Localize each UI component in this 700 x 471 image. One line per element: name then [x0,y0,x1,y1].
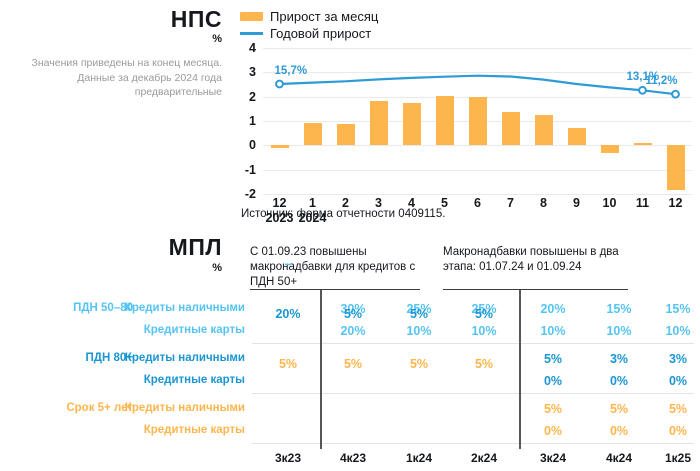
chart-bar [667,145,685,190]
legend-label-line: Годовой прирост [270,26,371,41]
table-row-label: Кредиты наличными [0,352,245,364]
table-cell: 10% [587,324,651,338]
table-cell: 5% [256,357,320,371]
table-row-divider [252,343,694,344]
table-column-label: 3к23 [256,451,320,465]
chart-source-note: Источник: форма отчетности 0409115. [241,208,445,220]
table-cell: 0% [646,424,700,438]
table-cell: 5% [587,402,651,416]
table-cell: 0% [587,424,651,438]
x-axis-tick: 6 [463,196,493,210]
x-axis-tick: 9 [562,196,592,210]
table-cell: 5% [321,307,385,321]
legend-bar-swatch-icon [240,12,263,21]
chart-legend: Прирост за месяц Годовой прирост [240,8,378,42]
table-cell: 10% [452,324,516,338]
table-row-label: Кредиты наличными [0,402,245,414]
table-cell: 15% [587,302,651,316]
table-cell: 5% [646,402,700,416]
chart-bar [568,128,586,145]
table-column-label: 2к24 [452,451,516,465]
chart-bar [469,97,487,145]
mpl-table: ПДН 50–80Кредиты наличнымиКредитные карт… [0,295,700,471]
table-cell: – [256,257,320,271]
table-column-label: 1к25 [646,451,700,465]
y-axis-tick: -2 [240,188,256,200]
chart-bar [337,124,355,145]
table-column-label: 4к24 [587,451,651,465]
mpl-unit-label: % [0,262,222,274]
table-cell: 20% [256,307,320,321]
table-cell: 5% [387,357,451,371]
y-axis-tick: 2 [240,91,256,103]
table-cell: 0% [587,374,651,388]
chart-bar [403,103,421,145]
table-cell: 5% [452,357,516,371]
y-axis-tick: -1 [240,164,256,176]
infographic-page: НПС % Значения приведены на конец месяца… [0,0,700,471]
chart-bar [601,145,619,152]
table-row-label: Кредитные карты [0,424,245,436]
table-cell: 5% [321,357,385,371]
chart-bar [436,96,454,145]
chart-bar [370,101,388,145]
table-cell: 10% [387,324,451,338]
nps-chart: 43210-1-2 15,7%13,1%11,2% [240,48,692,194]
chart-plot-area [263,48,692,194]
table-row-divider [252,443,694,444]
x-axis-tick: 8 [529,196,559,210]
table-cell: 20% [321,324,385,338]
x-axis-tick: 11 [628,196,658,210]
mpl-annotation-2: Макронадбавки повышены в два этапа: 01.0… [443,245,628,275]
table-cell: 0% [646,374,700,388]
line-marker [276,81,283,88]
table-column-label: 1к24 [387,451,451,465]
line-point-label: 15,7% [275,65,308,77]
line-marker [639,87,646,94]
line-path [280,76,676,95]
table-cell: 10% [646,324,700,338]
chart-bar [271,145,289,148]
chart-bar [502,112,520,145]
table-row-label: Кредитные карты [0,374,245,386]
x-axis-tick: 7 [496,196,526,210]
table-cell: 10% [521,324,585,338]
line-point-label: 11,2% [646,75,678,87]
chart-bar [304,123,322,145]
y-axis-tick: 1 [240,115,256,127]
table-cell: 15% [646,302,700,316]
table-column-label: 3к24 [521,451,585,465]
table-column-label: 4к23 [321,451,385,465]
legend-item-bar: Прирост за месяц [240,8,378,25]
table-cell: 3% [587,352,651,366]
table-cell: 5% [521,402,585,416]
legend-label-bar: Прирост за месяц [270,9,378,24]
table-cell: 5% [521,352,585,366]
gridline [263,194,692,195]
table-cell: 0% [521,424,585,438]
annotation-rule [250,289,420,290]
table-row-label: Кредитные карты [0,324,245,336]
y-axis-tick: 0 [240,139,256,151]
table-cell: 20% [521,302,585,316]
chart-bar [535,115,553,145]
x-axis-tick: 10 [595,196,625,210]
table-cell: 0% [521,374,585,388]
nps-unit-label: % [0,33,222,45]
legend-line-swatch-icon [240,32,263,35]
y-axis-tick: 4 [240,42,256,54]
annotation-rule [443,289,628,290]
chart-bar [634,143,652,145]
nps-note: Значения приведены на конец месяца. Данн… [10,56,222,100]
mpl-section-title: МПЛ [0,234,222,261]
nps-section-title: НПС [0,6,222,33]
table-row-divider [252,393,694,394]
line-marker [672,91,679,98]
table-cell: 5% [387,307,451,321]
table-cell: 5% [452,307,516,321]
table-cell: 3% [646,352,700,366]
table-row-label: Кредиты наличными [0,302,245,314]
legend-item-line: Годовой прирост [240,25,378,42]
y-axis-tick: 3 [240,66,256,78]
x-axis-tick: 12 [661,196,691,210]
